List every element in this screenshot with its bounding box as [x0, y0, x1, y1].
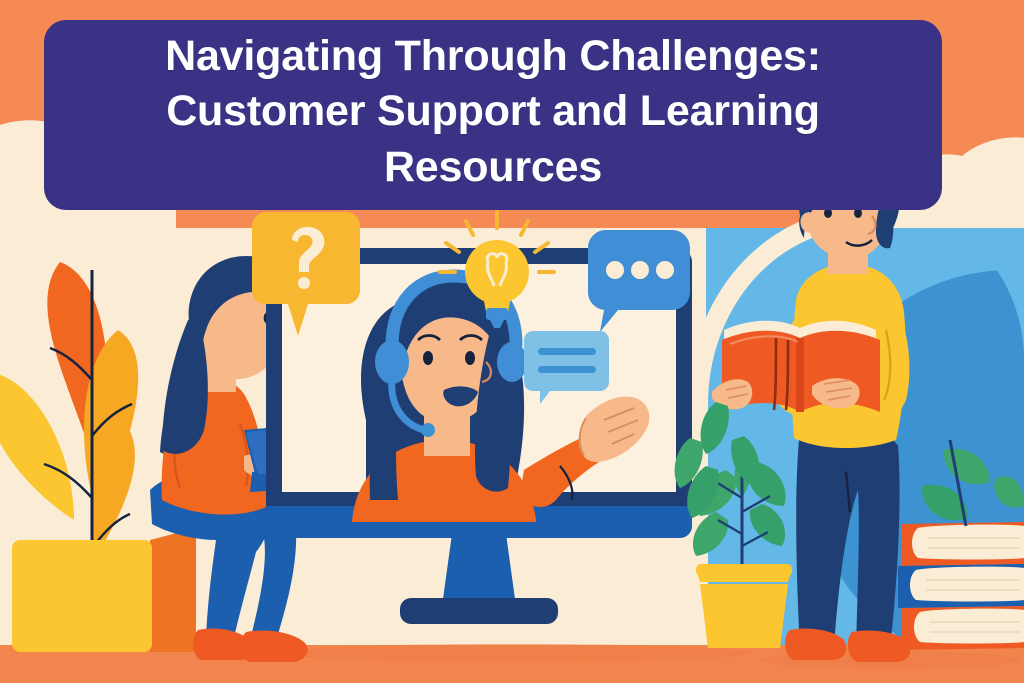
headset-mic — [421, 423, 435, 437]
pot-body-center — [700, 584, 788, 648]
lightbulb-base — [486, 308, 508, 320]
dot-1 — [606, 261, 624, 279]
page-title: Navigating Through Challenges: Customer … — [165, 29, 821, 194]
floor-shadow-center — [272, 644, 752, 662]
title-banner: Navigating Through Challenges: Customer … — [44, 20, 942, 210]
dot-2 — [631, 261, 649, 279]
book-spine — [796, 338, 804, 412]
lightbulb-glass — [465, 240, 529, 304]
dot-3 — [656, 261, 674, 279]
book-stack — [898, 522, 1024, 650]
monitor-base — [400, 598, 558, 624]
monitor-neck — [442, 534, 516, 606]
agent-eye-right — [465, 351, 475, 365]
question-dot — [298, 277, 310, 289]
message-line-2 — [538, 366, 596, 373]
headset-ear-right — [497, 342, 527, 382]
book-3 — [902, 606, 1024, 650]
book-2 — [898, 564, 1024, 608]
message-line-1 — [538, 348, 596, 355]
yellow-cube-seat — [12, 528, 196, 652]
book-1 — [902, 522, 1024, 566]
agent-eye-left — [423, 351, 433, 365]
illustration-canvas: Navigating Through Challenges: Customer … — [0, 0, 1024, 683]
